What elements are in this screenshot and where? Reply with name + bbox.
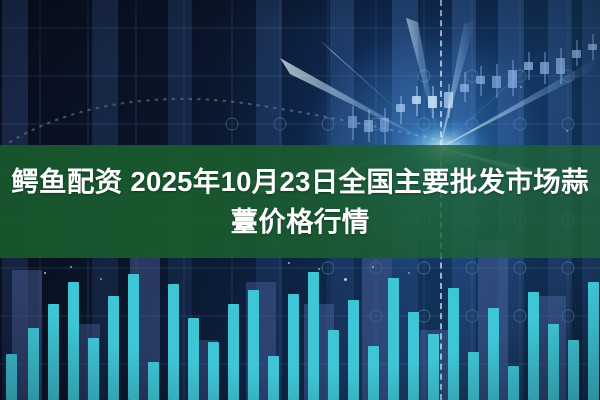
title-line-2: 薹价格行情: [231, 202, 370, 242]
title-line-1: 鳄鱼配资 2025年10月23日全国主要批发市场蒜: [11, 162, 589, 202]
title-banner: 鳄鱼配资 2025年10月23日全国主要批发市场蒜 薹价格行情: [0, 145, 600, 258]
banner-image: 鳄鱼配资 2025年10月23日全国主要批发市场蒜 薹价格行情: [0, 0, 600, 400]
